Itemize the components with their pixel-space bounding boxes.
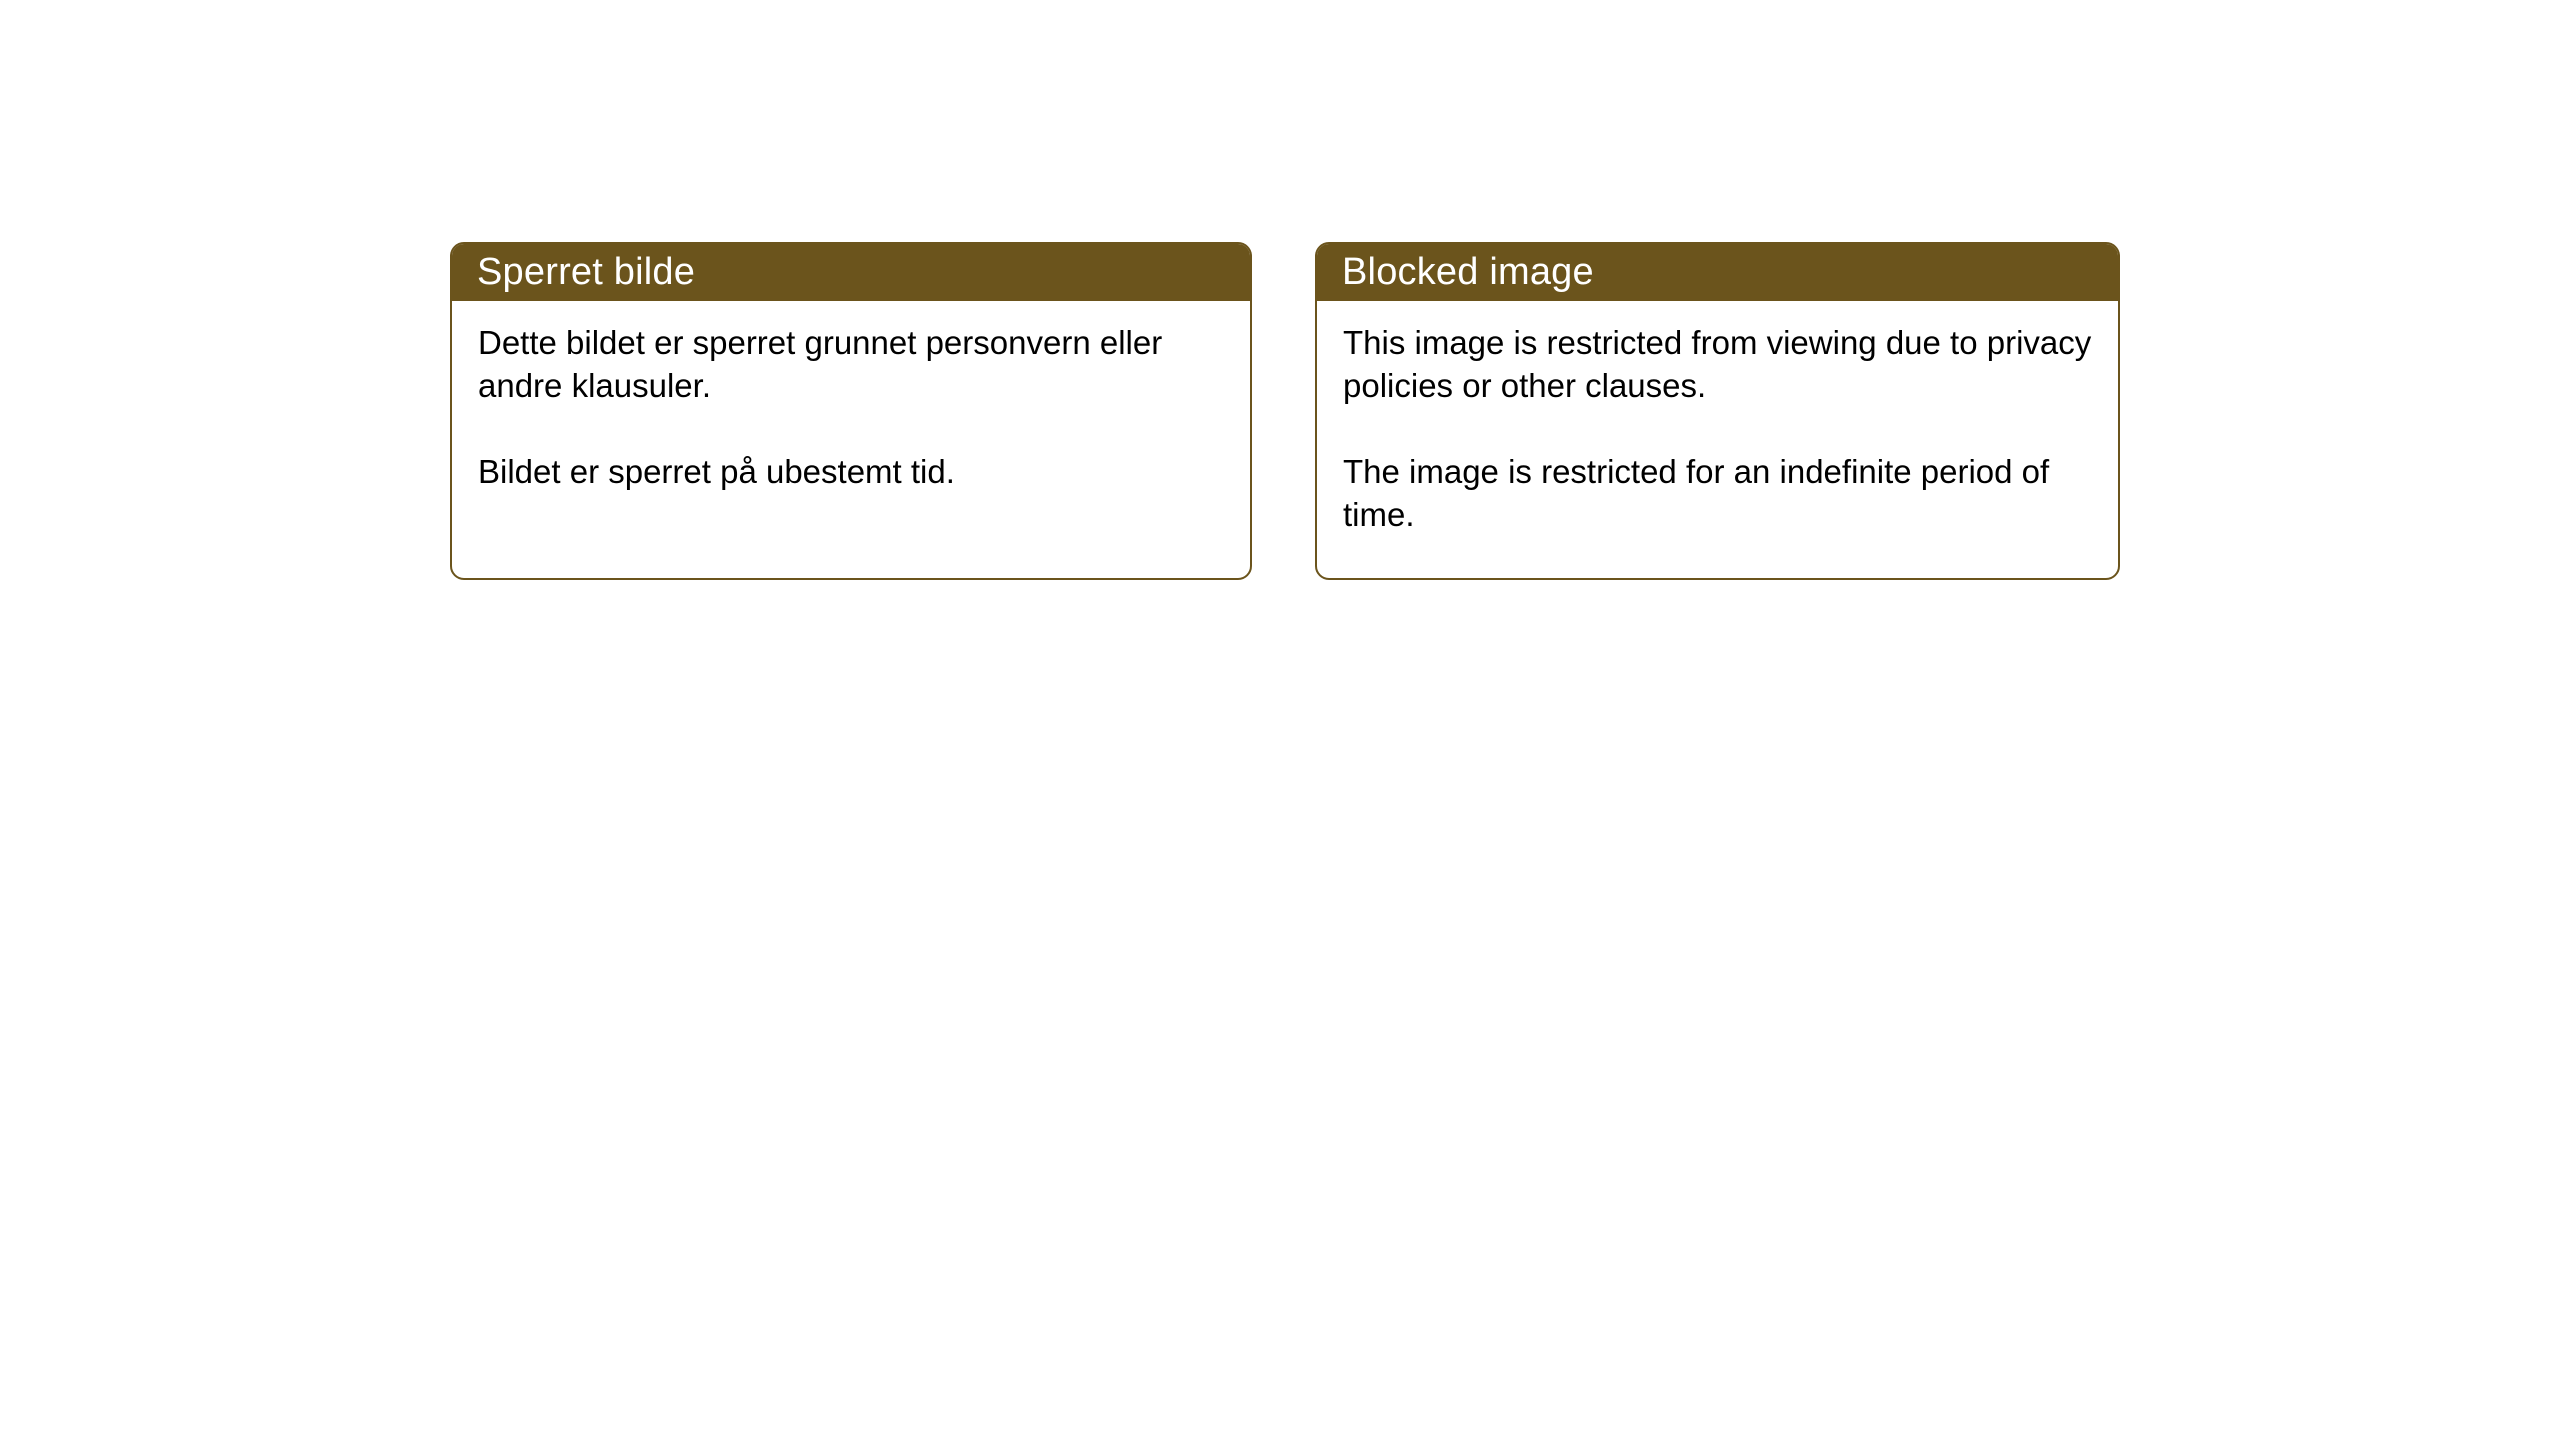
- card-body-english: This image is restricted from viewing du…: [1317, 301, 2118, 536]
- card-header-norwegian: Sperret bilde: [451, 243, 1251, 301]
- page-canvas: Sperret bilde Dette bildet er sperret gr…: [0, 0, 2560, 1440]
- blocked-image-notice-card-norwegian: Sperret bilde Dette bildet er sperret gr…: [450, 242, 1252, 580]
- blocked-image-notice-card-english: Blocked image This image is restricted f…: [1315, 242, 2120, 580]
- card-body-norwegian: Dette bildet er sperret grunnet personve…: [452, 301, 1250, 493]
- card-header-english: Blocked image: [1316, 243, 2119, 301]
- card-paragraph-privacy-english: This image is restricted from viewing du…: [1343, 321, 2094, 407]
- card-title-english: Blocked image: [1342, 253, 1594, 291]
- card-paragraph-duration-norwegian: Bildet er sperret på ubestemt tid.: [478, 450, 1226, 493]
- card-title-norwegian: Sperret bilde: [477, 253, 695, 291]
- card-paragraph-privacy-norwegian: Dette bildet er sperret grunnet personve…: [478, 321, 1226, 407]
- card-paragraph-duration-english: The image is restricted for an indefinit…: [1343, 450, 2094, 536]
